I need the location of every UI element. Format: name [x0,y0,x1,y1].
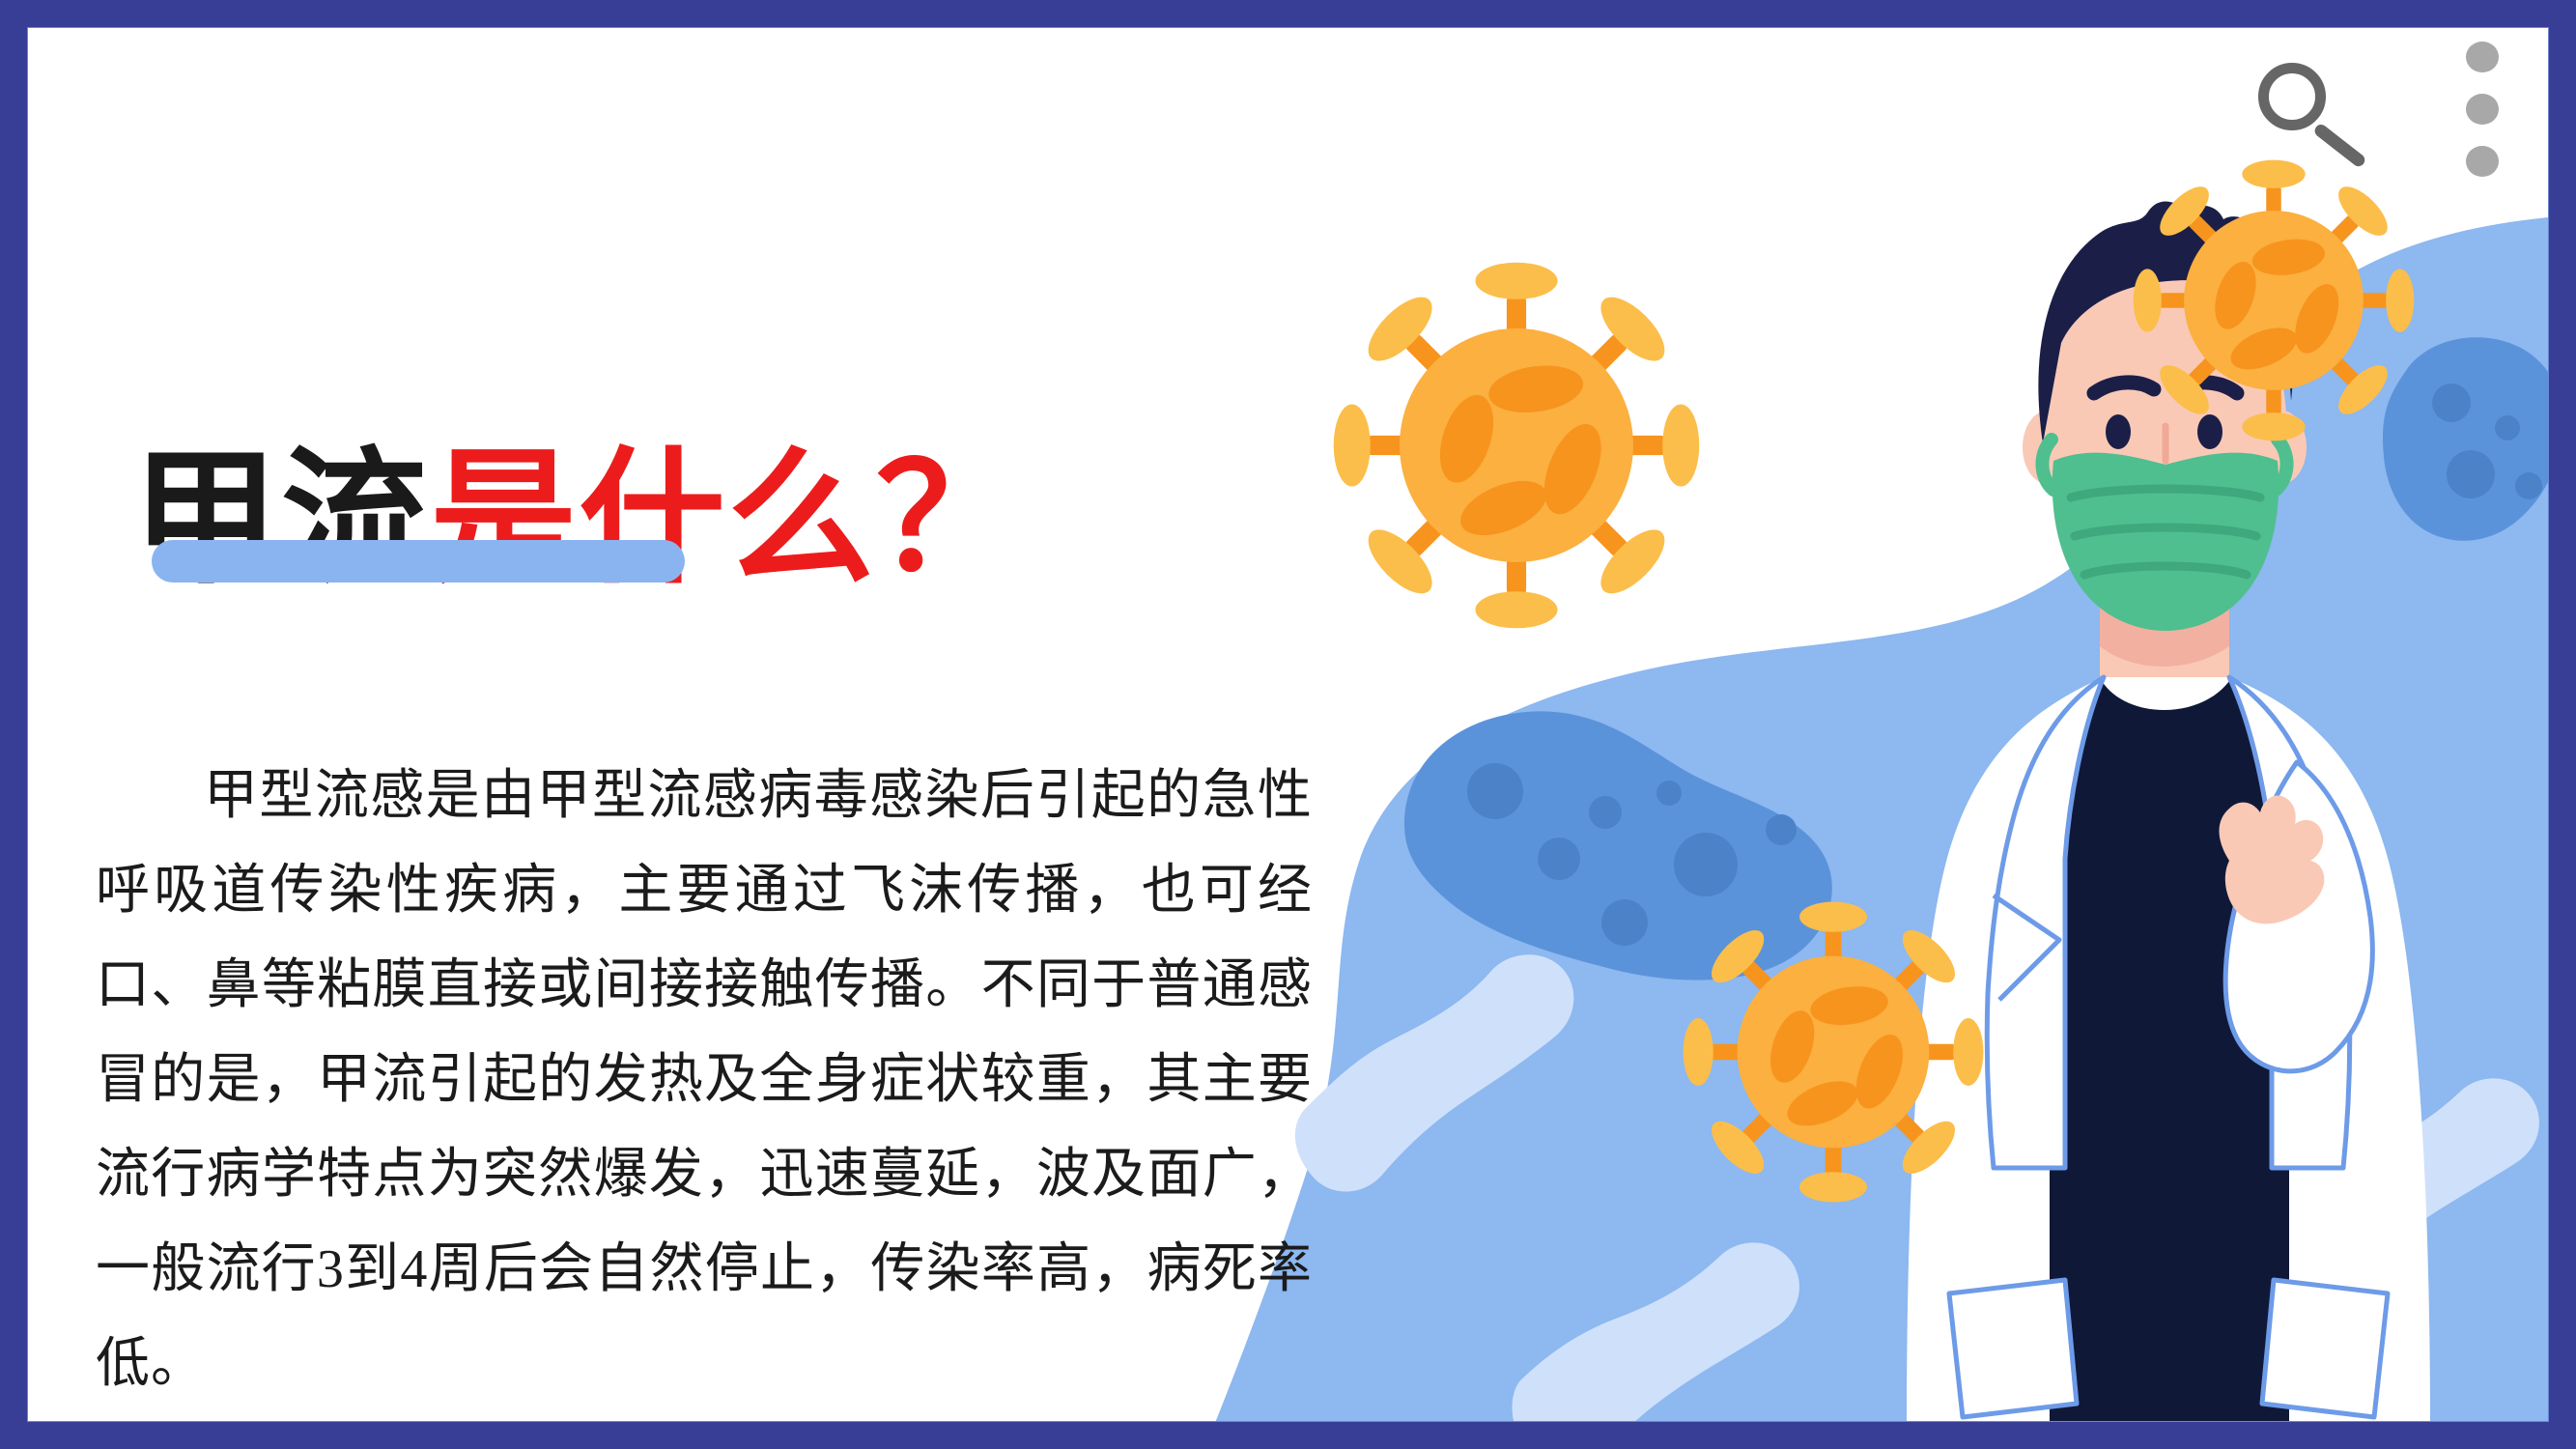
kebab-menu-icon[interactable] [2461,42,2504,177]
body-paragraph: 甲型流感是由甲型流感病毒感染后引起的急性呼吸道传染性疾病，主要通过飞沫传播，也可… [96,749,1313,1411]
kebab-dot-3 [2466,146,2499,177]
influenza-virus-bottom [1684,902,1984,1203]
influenza-virus-top-right [2134,160,2415,441]
search-icon-ring [2258,63,2326,130]
slide-frame: 甲流是什么？ 甲型流感是由甲型流感病毒感染后引起的急性呼吸道传染性疾病，主要通过… [0,0,2576,1449]
kebab-dot-1 [2466,42,2499,72]
illustration-panel [1215,28,2548,1422]
text-column: 甲流是什么？ 甲型流感是由甲型流感病毒感染后引起的急性呼吸道传染性疾病，主要通过… [28,28,1342,1421]
kebab-dot-2 [2466,94,2499,125]
toolbar [2252,42,2504,177]
search-icon-handle [2312,122,2367,168]
title-underline-bar [152,540,685,582]
slide-card: 甲流是什么？ 甲型流感是由甲型流感病毒感染后引起的急性呼吸道传染性疾病，主要通过… [27,27,2549,1422]
search-icon[interactable] [2252,51,2368,167]
influenza-virus-top-left [1334,263,1700,629]
